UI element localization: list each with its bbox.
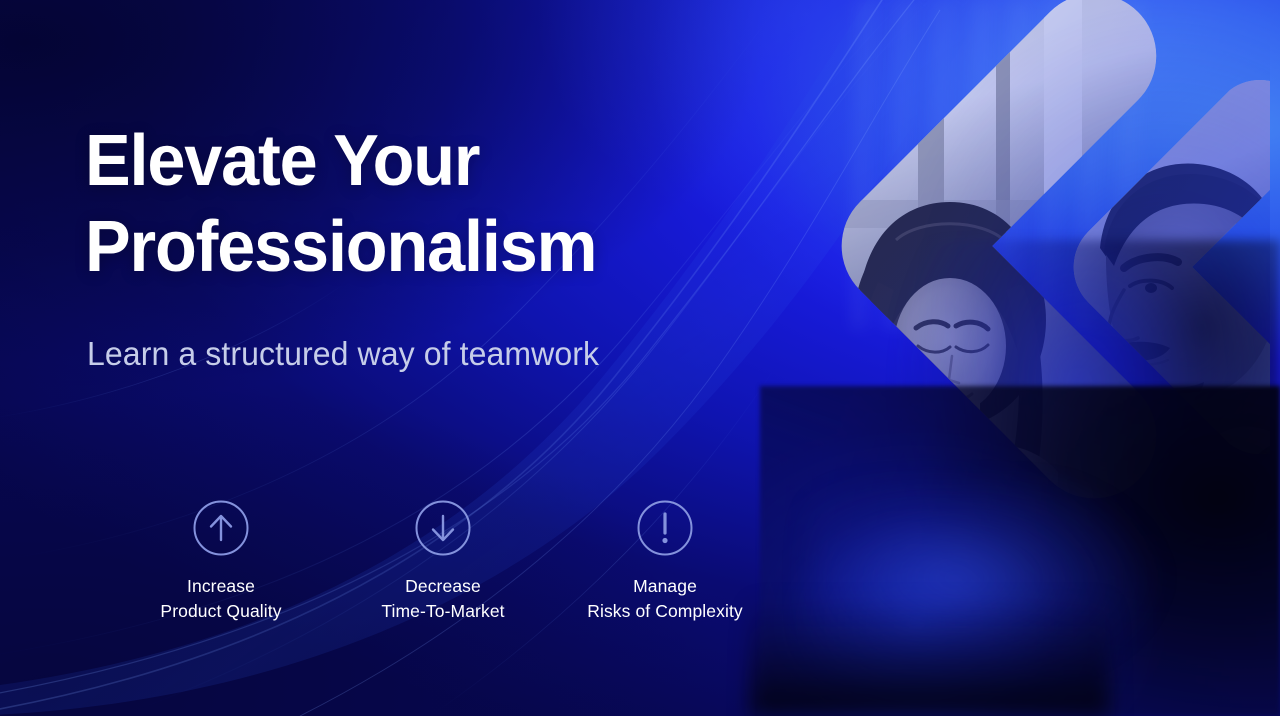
headline-line-2: Professionalism: [85, 204, 750, 290]
feature-label-line-1: Decrease: [381, 574, 504, 599]
hero-slide: Elevate Your Professionalism Learn a str…: [0, 0, 1280, 716]
feature-label-line-2: Risks of Complexity: [587, 599, 743, 624]
feature-label: Decrease Time-To-Market: [381, 574, 504, 624]
feature-list: Increase Product Quality Decrease Time-T…: [110, 498, 776, 624]
feature-label: Increase Product Quality: [160, 574, 281, 624]
feature-label-line-1: Manage: [587, 574, 743, 599]
arrow-up-circle-icon: [191, 498, 251, 558]
feature-item-decrease-time-to-market: Decrease Time-To-Market: [332, 498, 554, 624]
subtitle: Learn a structured way of teamwork: [87, 332, 599, 376]
feature-label-line-2: Product Quality: [160, 599, 281, 624]
arrow-down-circle-icon: [413, 498, 473, 558]
slide-content: Elevate Your Professionalism Learn a str…: [0, 0, 1280, 716]
feature-item-increase-product-quality: Increase Product Quality: [110, 498, 332, 624]
page-title: Elevate Your Professionalism: [85, 118, 750, 290]
feature-label: Manage Risks of Complexity: [587, 574, 743, 624]
exclamation-circle-icon: [635, 498, 695, 558]
feature-label-line-2: Time-To-Market: [381, 599, 504, 624]
feature-label-line-1: Increase: [160, 574, 281, 599]
feature-item-manage-risks-of-complexity: Manage Risks of Complexity: [554, 498, 776, 624]
headline-line-1: Elevate Your: [85, 118, 750, 204]
